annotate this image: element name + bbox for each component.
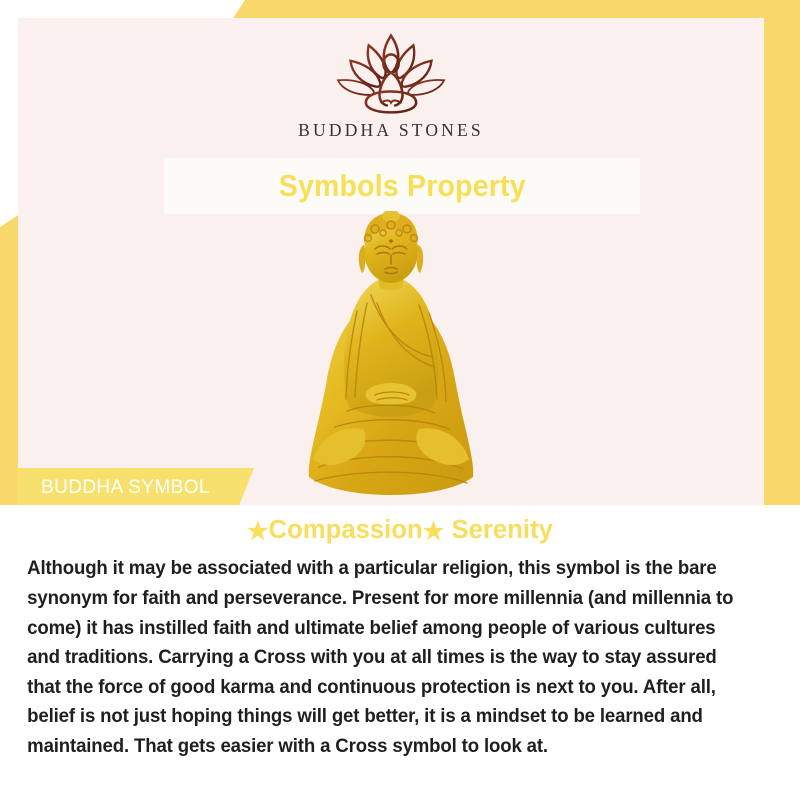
hero-panel: BUDDHA STONES Symbols Property: [18, 18, 764, 505]
brand-name: BUDDHA STONES: [18, 120, 764, 141]
page-title: Symbols Property: [278, 168, 525, 204]
content-paragraph: Although it may be associated with a par…: [0, 554, 776, 761]
hero-image-container: [18, 208, 764, 503]
buddha-symbol-ribbon-label: BUDDHA SYMBOL: [18, 477, 210, 499]
content-subheading: ★Compassion★ Serenity: [0, 516, 800, 545]
seated-buddha-statue: [307, 211, 475, 503]
star-icon-left: ★: [247, 518, 269, 545]
subheading-compassion: Compassion: [269, 516, 423, 544]
buddha-symbol-ribbon: BUDDHA SYMBOL: [18, 468, 254, 508]
star-icon-middle: ★: [423, 518, 445, 545]
page-title-band: Symbols Property: [164, 158, 640, 214]
brand-block: BUDDHA STONES: [18, 30, 764, 141]
lotus-meditation-icon: [321, 30, 461, 118]
poster-canvas: BUDDHA STONES Symbols Property: [0, 0, 800, 800]
subheading-serenity: Serenity: [452, 516, 553, 544]
content-section: ★Compassion★ Serenity Although it may be…: [0, 505, 800, 800]
